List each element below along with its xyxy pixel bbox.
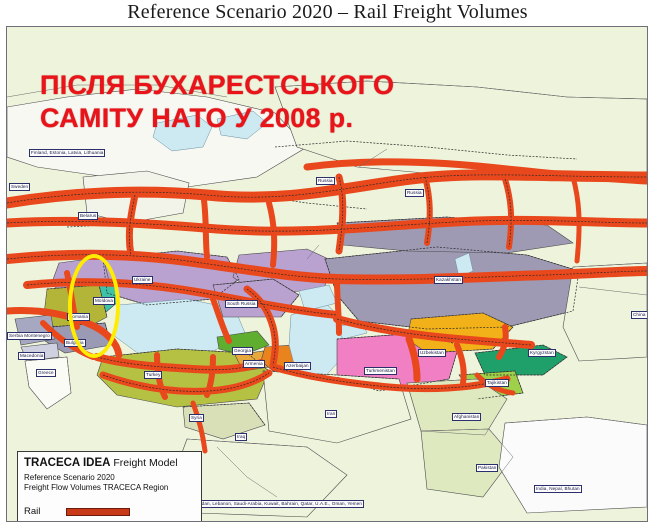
map-country-label: Sweden [9,183,30,191]
map-country-label: Afghanistan [452,413,481,421]
map-country-label: Syria [189,414,204,422]
map-country-label: Finland, Estonia, Latvia, Lithuania [29,149,105,157]
map-country-label: Turkey [144,371,162,379]
map-country-label: Russia [405,189,424,197]
map-country-label: Belarus [78,212,98,220]
legend-rail-entry: Rail [24,506,195,517]
map-country-label: Armenia [243,360,265,368]
map-country-label: Iraq [235,433,247,441]
overlay-headline: ПІСЛЯ БУХАРЕСТСЬКОГО САМІТУ НАТО У 2008 … [40,69,580,135]
map-country-label: Kazakhstan [434,276,463,284]
highlight-ellipse [68,254,120,358]
map-country-label: Greece [36,369,56,377]
overlay-line-1: ПІСЛЯ БУХАРЕСТСЬКОГО [40,69,580,102]
map-container[interactable]: .land{stroke:#4a4a4a;stroke-width:.6;} .… [6,26,648,522]
map-country-label: Azerbaijan [284,362,311,370]
map-country-label: Russia [316,177,335,185]
map-country-label: Uzbekistan [418,349,446,357]
slide-page: Reference Scenario 2020 – Rail Freight V… [0,0,655,528]
map-country-label: Pakistan [476,464,498,472]
legend-subtitle-line-1: Reference Scenario 2020 [24,473,195,483]
overlay-line-2: САМІТУ НАТО У 2008 р. [40,102,580,135]
legend-rail-swatch [66,508,130,516]
map-country-label: Macedonia [18,352,45,360]
map-country-label: Serbia Montenegro [7,332,52,340]
legend-title: TRACECA IDEA Freight Model [24,457,195,470]
map-country-label: Turkmenistan [364,367,397,375]
map-legend: TRACECA IDEA Freight Model Reference Sce… [17,451,202,522]
map-country-label: Georgia [232,347,253,355]
map-country-label: Tajikistan [485,379,509,387]
map-country-label: Iran [325,410,337,418]
map-country-label: South Russia [225,300,258,308]
map-country-label: Ukraine [132,276,153,284]
map-country-label: Jordan, Lebanon, Saudi-Arabia, Kuwait, B… [193,500,364,508]
legend-subtitle-line-2: Freight Flow Volumes TRACECA Region [24,483,195,493]
map-country-label: Kyrgyzstan [528,349,556,357]
page-title: Reference Scenario 2020 – Rail Freight V… [0,0,655,25]
map-country-label: China [631,311,648,319]
legend-subtitle: Reference Scenario 2020 Freight Flow Vol… [24,473,195,493]
legend-title-bold: TRACECA IDEA [24,457,110,469]
legend-rail-label: Rail [24,506,66,517]
map-country-label: India, Nepal, Bhutan [534,485,582,493]
legend-title-rest: Freight Model [110,457,177,469]
